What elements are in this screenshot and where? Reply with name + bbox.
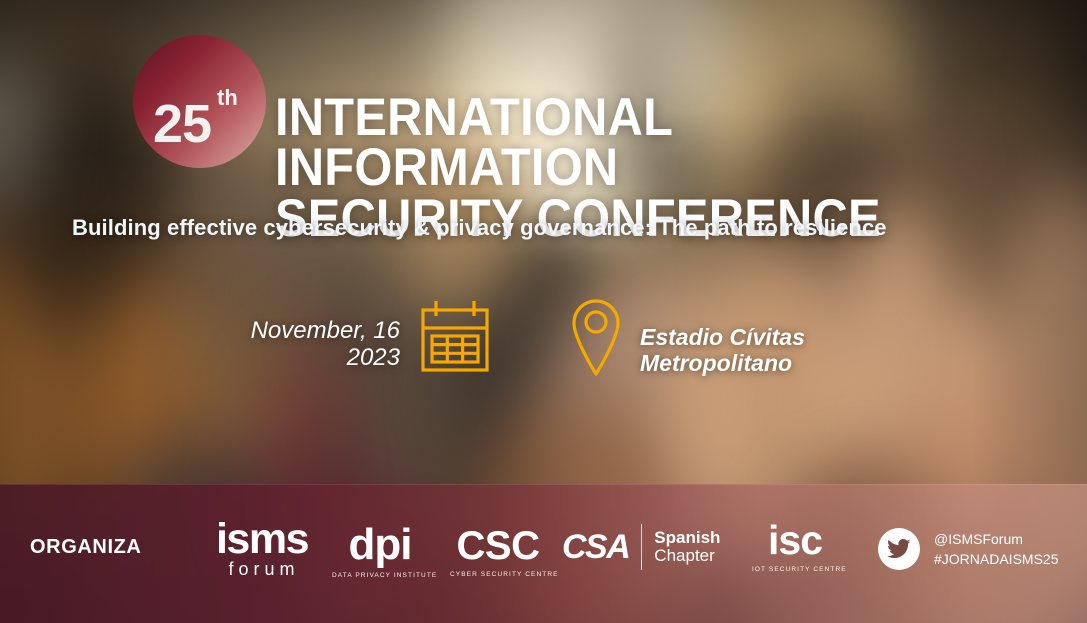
event-date-line-2: 2023 — [200, 345, 400, 372]
page-subtitle: Building effective cybersecurity & priva… — [72, 215, 887, 241]
logo-csc[interactable]: CSC CYBER SECURITY CENTRE — [450, 526, 546, 578]
logo-isms-forum[interactable]: isms forum — [208, 518, 316, 580]
logo-isc[interactable]: isc IOT SECURITY CENTRE — [752, 520, 838, 573]
logo-dpi-sub: DATA PRIVACY INSTITUTE — [332, 572, 428, 579]
logo-dpi-mark: dpi — [332, 523, 428, 567]
organiza-label: ORGANIZA — [30, 536, 141, 559]
anniversary-number: 25 — [153, 97, 211, 151]
event-date: November, 16 2023 — [200, 318, 400, 372]
logo-csc-mark: CSC — [450, 526, 546, 566]
calendar-icon — [420, 298, 490, 381]
logo-csc-sub: CYBER SECURITY CENTRE — [450, 571, 546, 578]
social-block[interactable]: @ISMSForum #JORNADAISMS25 — [878, 528, 1058, 570]
anniversary-badge: 25 th — [133, 35, 266, 168]
venue-line-1: Estadio Cívitas — [640, 325, 805, 351]
logo-csa-text: Spanish Chapter — [654, 529, 720, 566]
logo-isc-sub: IOT SECURITY CENTRE — [752, 566, 838, 573]
logo-csa-sub-line-1: Spanish — [654, 529, 720, 547]
logo-csa-spanish-chapter[interactable]: CSA Spanish Chapter — [562, 524, 732, 570]
anniversary-ordinal: th — [217, 87, 238, 109]
logo-csa-mark: CSA — [562, 530, 629, 564]
logo-isms-mark: isms — [208, 518, 316, 561]
title-line-1: INTERNATIONAL INFORMATION — [275, 88, 672, 198]
social-text: @ISMSForum #JORNADAISMS25 — [934, 529, 1058, 570]
twitter-bird-icon[interactable] — [878, 528, 920, 570]
map-pin-icon — [568, 295, 624, 382]
venue-line-2: Metropolitano — [640, 351, 805, 377]
event-date-line-1: November, 16 — [200, 318, 400, 345]
logo-isc-mark: isc — [752, 520, 838, 561]
logo-csa-sub-line-2: Chapter — [654, 547, 720, 565]
logo-csa-divider — [641, 524, 642, 570]
logo-dpi[interactable]: dpi DATA PRIVACY INSTITUTE — [332, 523, 428, 579]
twitter-handle: @ISMSForum — [934, 529, 1058, 549]
conference-banner: 25 th INTERNATIONAL INFORMATION SECURITY… — [0, 0, 1087, 623]
event-venue: Estadio Cívitas Metropolitano — [640, 325, 805, 377]
twitter-hashtag: #JORNADAISMS25 — [934, 549, 1058, 569]
